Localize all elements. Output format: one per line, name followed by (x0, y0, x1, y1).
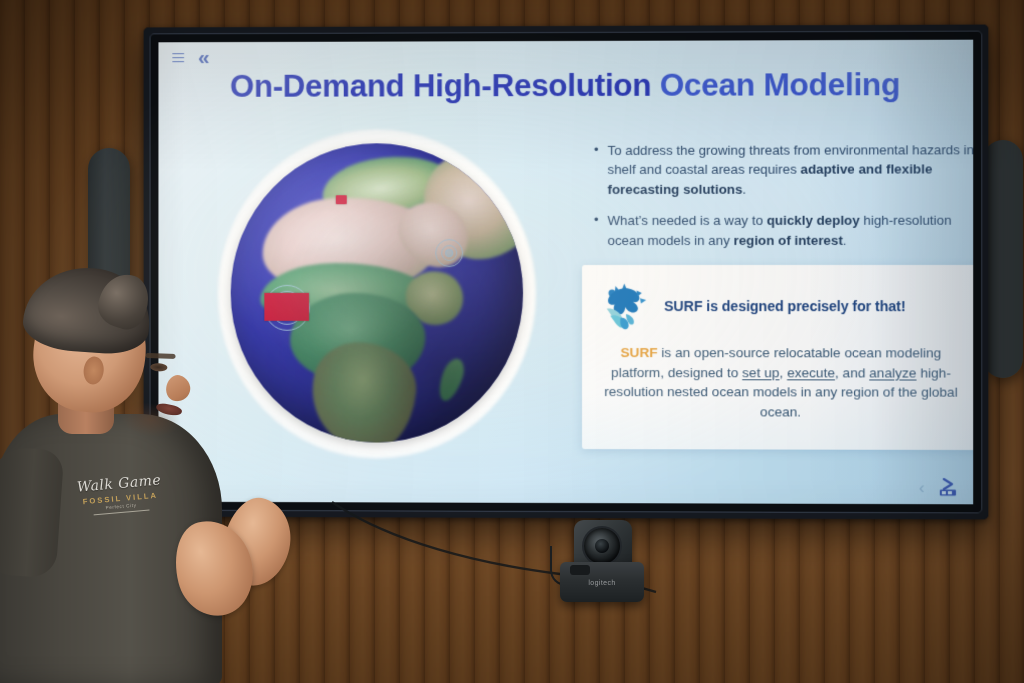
presenter-sleeve (0, 446, 64, 579)
collapse-panel-icon[interactable]: « (198, 47, 207, 68)
surf-text-segment: execute (787, 365, 835, 380)
landmass-madagascar (434, 356, 468, 404)
slide-navigation: ‹ (919, 478, 959, 496)
conference-camera: logitech (556, 518, 648, 602)
surf-text-segment: analyze (869, 365, 916, 380)
previous-slide-icon[interactable]: ‹ (919, 479, 925, 496)
bullet-marker: • (594, 211, 599, 250)
slide-bullet-list: •To address the growing threats from env… (594, 140, 973, 262)
bullet-text: To address the growing threats from envi… (608, 140, 974, 199)
slide-chrome: « (172, 47, 206, 68)
roi-marker-indian-ocean-dot (445, 249, 453, 257)
surf-text-segment: SURF (621, 345, 658, 360)
camera-lens-icon (584, 528, 620, 564)
camera-brand-label: logitech (560, 580, 644, 587)
surf-callout-card: SURF is designed precisely for that! SUR… (582, 265, 973, 450)
presenter-ear (82, 356, 105, 386)
slide-title: On-Demand High-Resolution Ocean Modeling (158, 66, 973, 105)
conference-room-scene: « On-Demand High-Resolution Ocean Modeli… (0, 0, 1024, 683)
presenter-nose (163, 373, 193, 405)
hamburger-menu-icon[interactable] (172, 53, 184, 63)
region-of-interest-box-mediterranean (336, 195, 347, 204)
water-splash-icon (598, 279, 654, 335)
slide-title-part1: On-Demand High-Resolution (230, 67, 660, 104)
camera-hinge (570, 565, 590, 575)
wall-speaker-right (983, 140, 1023, 378)
surf-text-segment: , and (835, 365, 869, 380)
bullet-marker: • (594, 141, 599, 199)
presenter-eyebrow (145, 353, 175, 359)
surf-description: SURF is an open-source relocatable ocean… (582, 335, 973, 422)
bullet-text: What’s needed is a way to quickly deploy… (608, 211, 974, 250)
slide-bullet-item: •What’s needed is a way to quickly deplo… (594, 211, 973, 250)
presenter-person: Walk Game FOSSIL VILLA Perfect City (0, 262, 300, 683)
slide-bullet-item: •To address the growing threats from env… (594, 140, 973, 199)
surf-text-segment: set up (742, 365, 779, 380)
surf-headline: SURF is designed precisely for that! (664, 299, 905, 315)
surf-card-header: SURF is designed precisely for that! (582, 265, 973, 335)
camera-base: logitech (560, 562, 644, 602)
presenter-eye (150, 363, 167, 372)
next-slide-icon[interactable] (937, 478, 959, 496)
slide-title-part2: Ocean Modeling (660, 66, 900, 103)
